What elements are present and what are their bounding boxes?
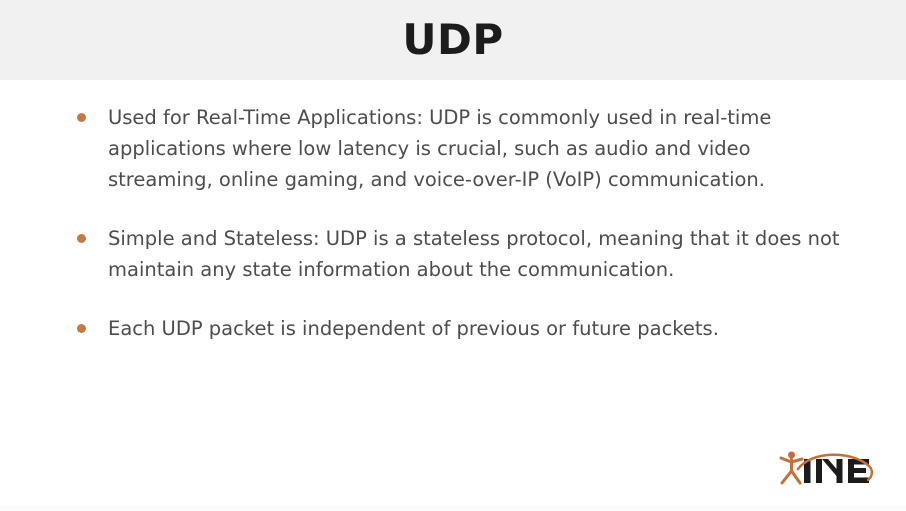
bullet-dot-icon <box>77 113 86 122</box>
page-title: UDP <box>402 19 503 61</box>
ine-wordmark <box>804 459 869 483</box>
slide-udp: UDP Used for Real-Time Applications: UDP… <box>0 0 906 511</box>
list-item-text: Used for Real-Time Applications: UDP is … <box>108 102 846 195</box>
slide-body: Used for Real-Time Applications: UDP is … <box>0 80 906 435</box>
bullet-dot-icon <box>77 324 86 333</box>
ine-logo <box>776 447 876 489</box>
ine-logo-icon <box>776 447 876 489</box>
list-item: Each UDP packet is independent of previo… <box>60 313 846 344</box>
list-item-text: Each UDP packet is independent of previo… <box>108 313 846 344</box>
bullet-dot-icon <box>77 234 86 243</box>
slide-title-band: UDP <box>0 0 906 80</box>
bullet-list: Used for Real-Time Applications: UDP is … <box>60 102 846 344</box>
list-item-text: Simple and Stateless: UDP is a stateless… <box>108 223 846 285</box>
list-item: Used for Real-Time Applications: UDP is … <box>60 102 846 195</box>
footer-strip <box>0 505 906 511</box>
list-item: Simple and Stateless: UDP is a stateless… <box>60 223 846 285</box>
